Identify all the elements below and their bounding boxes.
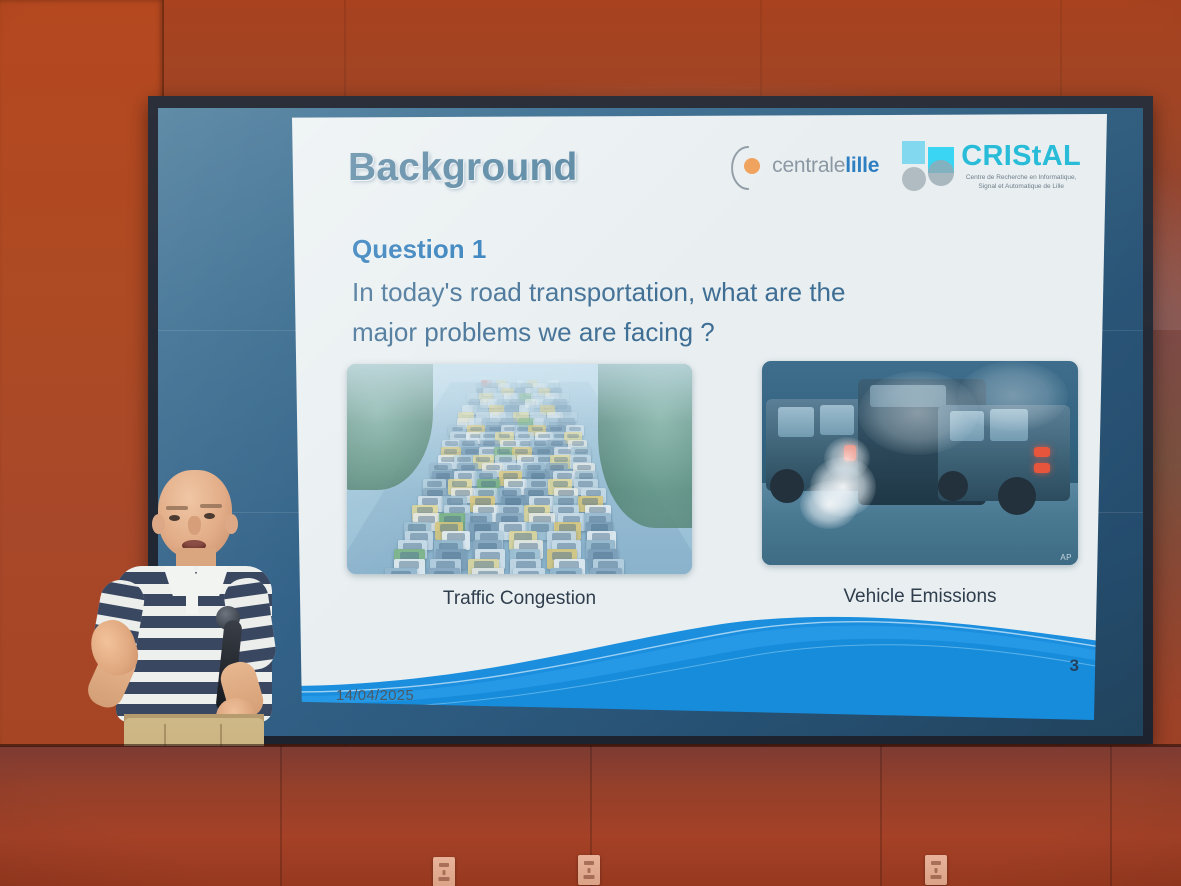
centralelille-logo: centralelille bbox=[731, 146, 879, 186]
photo-watermark: AP bbox=[1060, 553, 1072, 562]
centralelille-arc-icon bbox=[731, 146, 765, 186]
power-outlet[interactable] bbox=[578, 855, 600, 885]
cristal-subtitle-line-2: Signal et Automatique de Lille bbox=[961, 183, 1081, 192]
slide-wave-decoration: 14/04/2025 bbox=[292, 600, 1107, 720]
slide-page-number: 3 bbox=[1070, 656, 1079, 676]
power-outlet[interactable] bbox=[433, 857, 455, 886]
projected-slide: Background centralelille bbox=[292, 114, 1107, 720]
centralelille-word-1: centrale bbox=[772, 154, 845, 177]
cristal-subtitle-line-1: Centre de Recherche en Informatique, bbox=[961, 174, 1081, 183]
presentation-photo: Background centralelille bbox=[0, 0, 1181, 886]
figure-vehicle-emissions: AP bbox=[762, 361, 1078, 565]
slide-date: 14/04/2025 bbox=[336, 687, 414, 704]
cristal-mark-icon bbox=[901, 140, 957, 192]
figure-traffic-congestion bbox=[347, 364, 692, 574]
centralelille-word-2: lille bbox=[845, 154, 879, 177]
question-heading: Question 1 bbox=[352, 234, 486, 265]
centralelille-wordmark: centralelille bbox=[772, 154, 879, 178]
logo-row: centralelille CRIStAL Centre de Recherch… bbox=[731, 140, 1081, 192]
question-body-line-1: In today's road transportation, what are… bbox=[352, 277, 845, 307]
question-body: In today's road transportation, what are… bbox=[352, 272, 1052, 353]
cristal-logo: CRIStAL Centre de Recherche en Informati… bbox=[901, 140, 1081, 192]
question-body-line-2: major problems we are facing ? bbox=[352, 312, 1052, 352]
power-outlet[interactable] bbox=[925, 855, 947, 885]
cristal-wordmark: CRIStAL bbox=[961, 142, 1081, 171]
slide-title: Background bbox=[348, 146, 578, 190]
